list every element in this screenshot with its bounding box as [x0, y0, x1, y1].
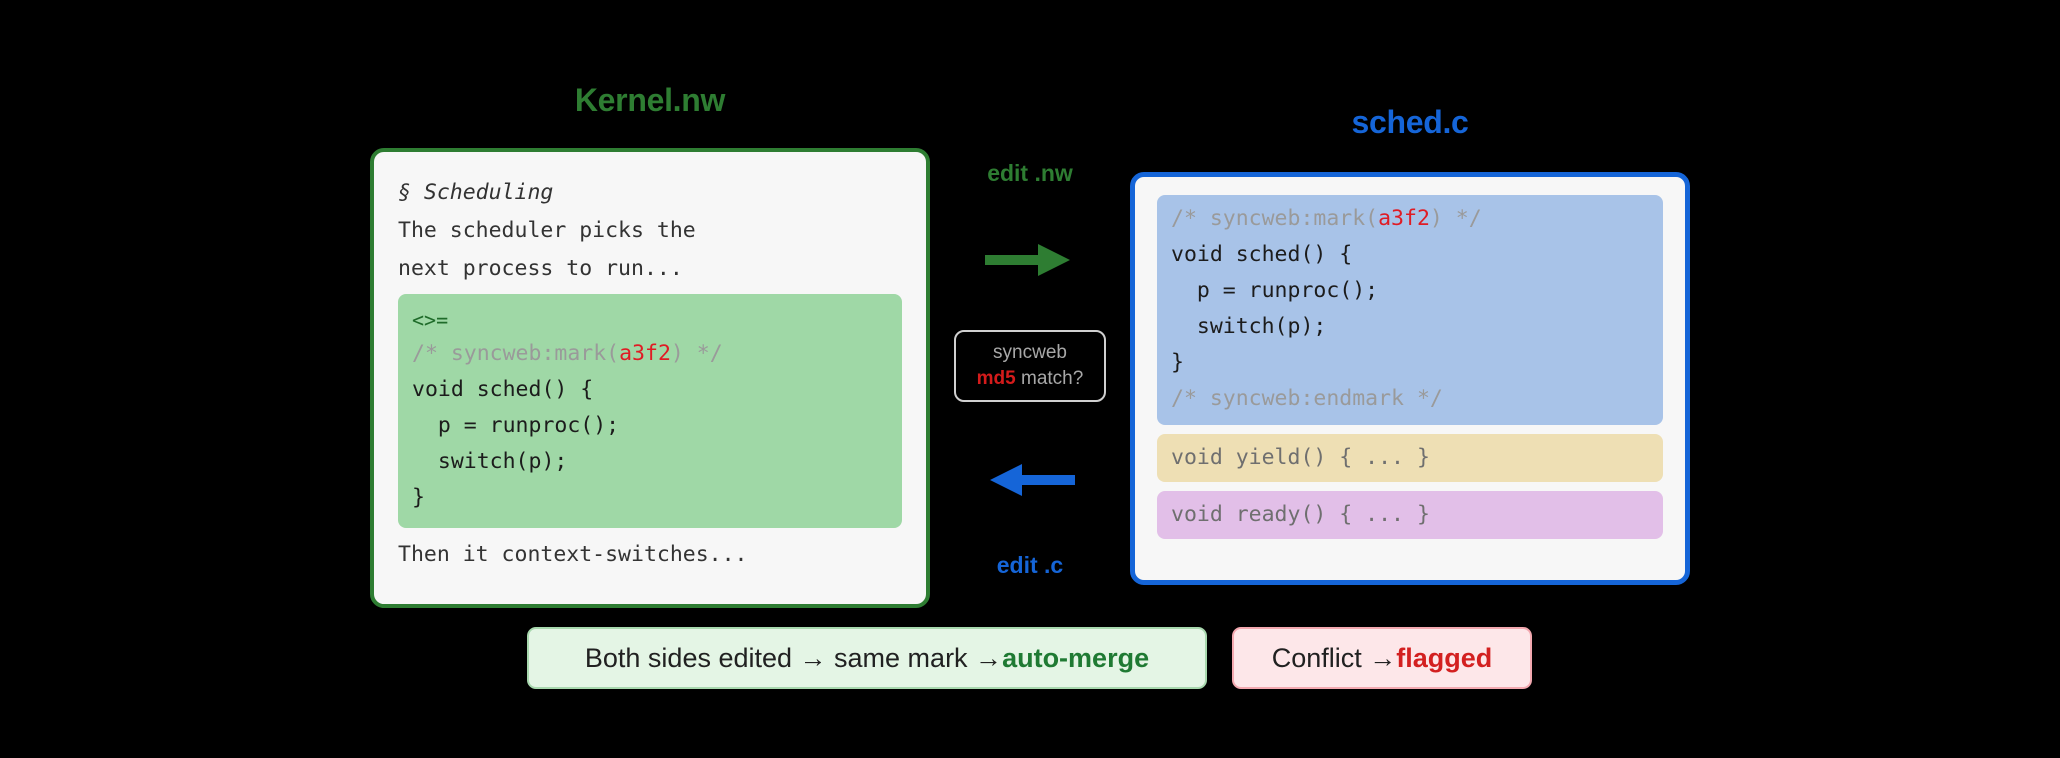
c-code-line: switch(p);	[1171, 309, 1649, 345]
legend-auto-merge: Both sides edited → same mark → auto-mer…	[527, 627, 1207, 689]
mark-comment-suffix: ) */	[671, 341, 723, 366]
arrow-left-icon	[930, 460, 1130, 500]
c-code-line: }	[1171, 345, 1649, 381]
mark-id-token: a3f2	[619, 341, 671, 366]
c-other-block-text: void ready() { ... }	[1171, 497, 1649, 533]
legend-merge-text: Both sides edited → same mark →	[585, 643, 1002, 674]
nw-prose-line-2: next process to run...	[398, 250, 902, 288]
nw-code-line: void sched() {	[412, 372, 888, 408]
mark-comment-prefix: /* syncweb:mark(	[412, 341, 619, 366]
c-code-line: void sched() {	[1171, 237, 1649, 273]
edit-nw-label: edit .nw	[930, 160, 1130, 187]
legend-conflict: Conflict → flagged	[1232, 627, 1532, 689]
nw-code-line: switch(p);	[412, 444, 888, 480]
legend-merge-accent: auto-merge	[1002, 643, 1149, 674]
legend-conflict-text: Conflict →	[1272, 643, 1397, 674]
right-panel-title: sched.c	[1130, 104, 1690, 141]
nw-prose-after: Then it context-switches...	[398, 536, 902, 574]
md5-box-line-2: md5 match?	[977, 367, 1084, 391]
syncweb-md5-check-box: syncweb md5 match?	[954, 330, 1106, 402]
c-code-line: p = runproc();	[1171, 273, 1649, 309]
md5-token: md5	[977, 368, 1016, 389]
diagram-canvas: Kernel.nw § Scheduling The scheduler pic…	[0, 0, 2060, 758]
c-marked-block: /* syncweb:mark(a3f2) */ void sched() { …	[1157, 195, 1663, 425]
nw-code-chunk: <>= /* syncweb:mark(a3f2) */ void sched(…	[398, 294, 902, 528]
mark-comment-suffix: ) */	[1430, 206, 1482, 231]
sched-c-panel: /* syncweb:mark(a3f2) */ void sched() { …	[1130, 172, 1690, 585]
nw-prose-line-1: The scheduler picks the	[398, 212, 902, 250]
arrow-right-icon	[930, 240, 1130, 280]
c-other-block-yield: void yield() { ... }	[1157, 434, 1663, 482]
md5-box-line-1: syncweb	[993, 341, 1067, 365]
kernel-nw-panel: § Scheduling The scheduler picks the nex…	[370, 148, 930, 608]
mark-id-token: a3f2	[1378, 206, 1430, 231]
chunk-open-delimiter: <>=	[412, 304, 888, 336]
c-other-block-ready: void ready() { ... }	[1157, 491, 1663, 539]
md5-match-text: match?	[1016, 368, 1084, 389]
c-other-block-text: void yield() { ... }	[1171, 440, 1649, 476]
left-panel-title: Kernel.nw	[370, 82, 930, 119]
c-mark-comment: /* syncweb:mark(a3f2) */	[1171, 201, 1649, 237]
nw-mark-comment: /* syncweb:mark(a3f2) */	[412, 336, 888, 372]
mark-comment-prefix: /* syncweb:mark(	[1171, 206, 1378, 231]
edit-c-label: edit .c	[930, 552, 1130, 579]
nw-code-line: }	[412, 480, 888, 516]
nw-code-line: p = runproc();	[412, 408, 888, 444]
c-endmark-comment: /* syncweb:endmark */	[1171, 381, 1649, 417]
legend-conflict-accent: flagged	[1396, 643, 1492, 674]
nw-section-heading: § Scheduling	[398, 174, 902, 212]
